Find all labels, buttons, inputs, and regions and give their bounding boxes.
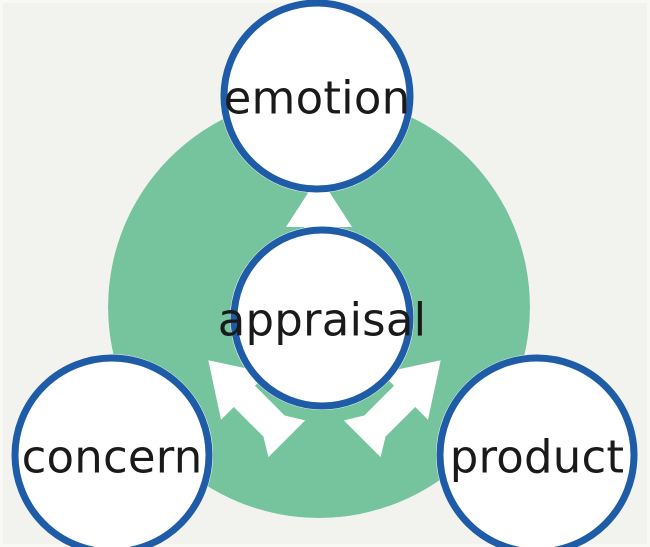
node-concern-label: concern [22,431,203,484]
diagram-canvas: emotion appraisal concern product [0,0,650,547]
node-appraisal-label: appraisal [218,294,427,347]
node-concern[interactable]: concern [15,358,209,547]
node-product-label: product [450,431,624,484]
diagram-svg: emotion appraisal concern product [0,0,650,547]
node-product[interactable]: product [440,358,634,547]
node-emotion[interactable]: emotion [224,3,411,189]
node-emotion-label: emotion [224,72,411,125]
